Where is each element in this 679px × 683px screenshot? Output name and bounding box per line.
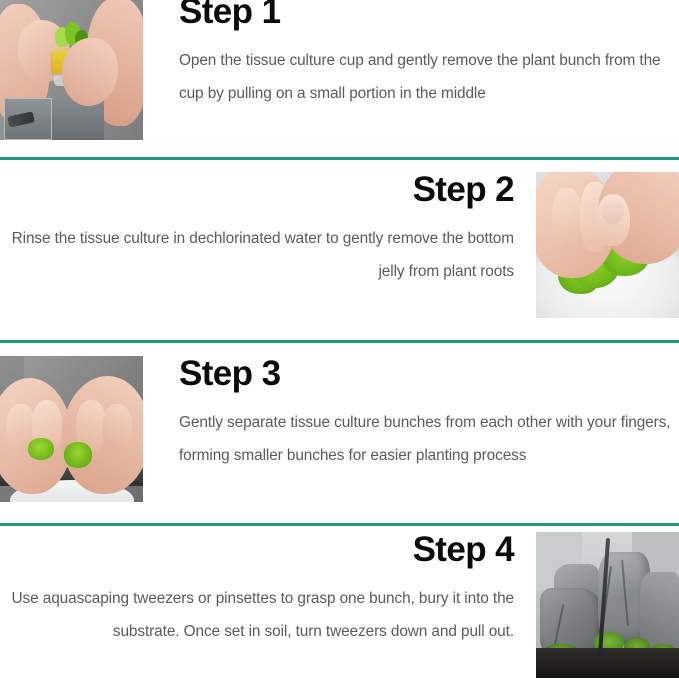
- step-2-body: Step 2 Rinse the tissue culture in dechl…: [0, 172, 536, 288]
- step-4-photo: [536, 532, 679, 678]
- step-1-block: Step 1 Open the tissue culture cup and g…: [0, 0, 679, 140]
- step-1-body: Step 1 Open the tissue culture cup and g…: [143, 0, 679, 110]
- step-2-photo: [536, 172, 679, 318]
- step-4-title: Step 4: [6, 532, 514, 567]
- step-4-body: Step 4 Use aquascaping tweezers or pinse…: [0, 532, 536, 648]
- step-4-block: Step 4 Use aquascaping tweezers or pinse…: [0, 532, 679, 678]
- step-2-description: Rinse the tissue culture in dechlorinate…: [6, 223, 514, 288]
- step-3-description: Gently separate tissue culture bunches f…: [179, 407, 673, 472]
- step-3-title: Step 3: [179, 356, 673, 391]
- step-2-block: Step 2 Rinse the tissue culture in dechl…: [0, 172, 679, 318]
- step-1-photo: [0, 0, 143, 140]
- step-1-description: Open the tissue culture cup and gently r…: [179, 45, 673, 110]
- step-1-title: Step 1: [179, 0, 673, 29]
- divider-3: [0, 523, 679, 526]
- step-2-title: Step 2: [6, 172, 514, 207]
- step-3-photo: [0, 356, 143, 502]
- step-3-body: Step 3 Gently separate tissue culture bu…: [143, 356, 679, 472]
- instructional-infographic: Step 1 Open the tissue culture cup and g…: [0, 0, 679, 683]
- step-4-description: Use aquascaping tweezers or pinsettes to…: [6, 583, 514, 648]
- divider-1: [0, 157, 679, 160]
- divider-2: [0, 340, 679, 343]
- step-3-block: Step 3 Gently separate tissue culture bu…: [0, 356, 679, 502]
